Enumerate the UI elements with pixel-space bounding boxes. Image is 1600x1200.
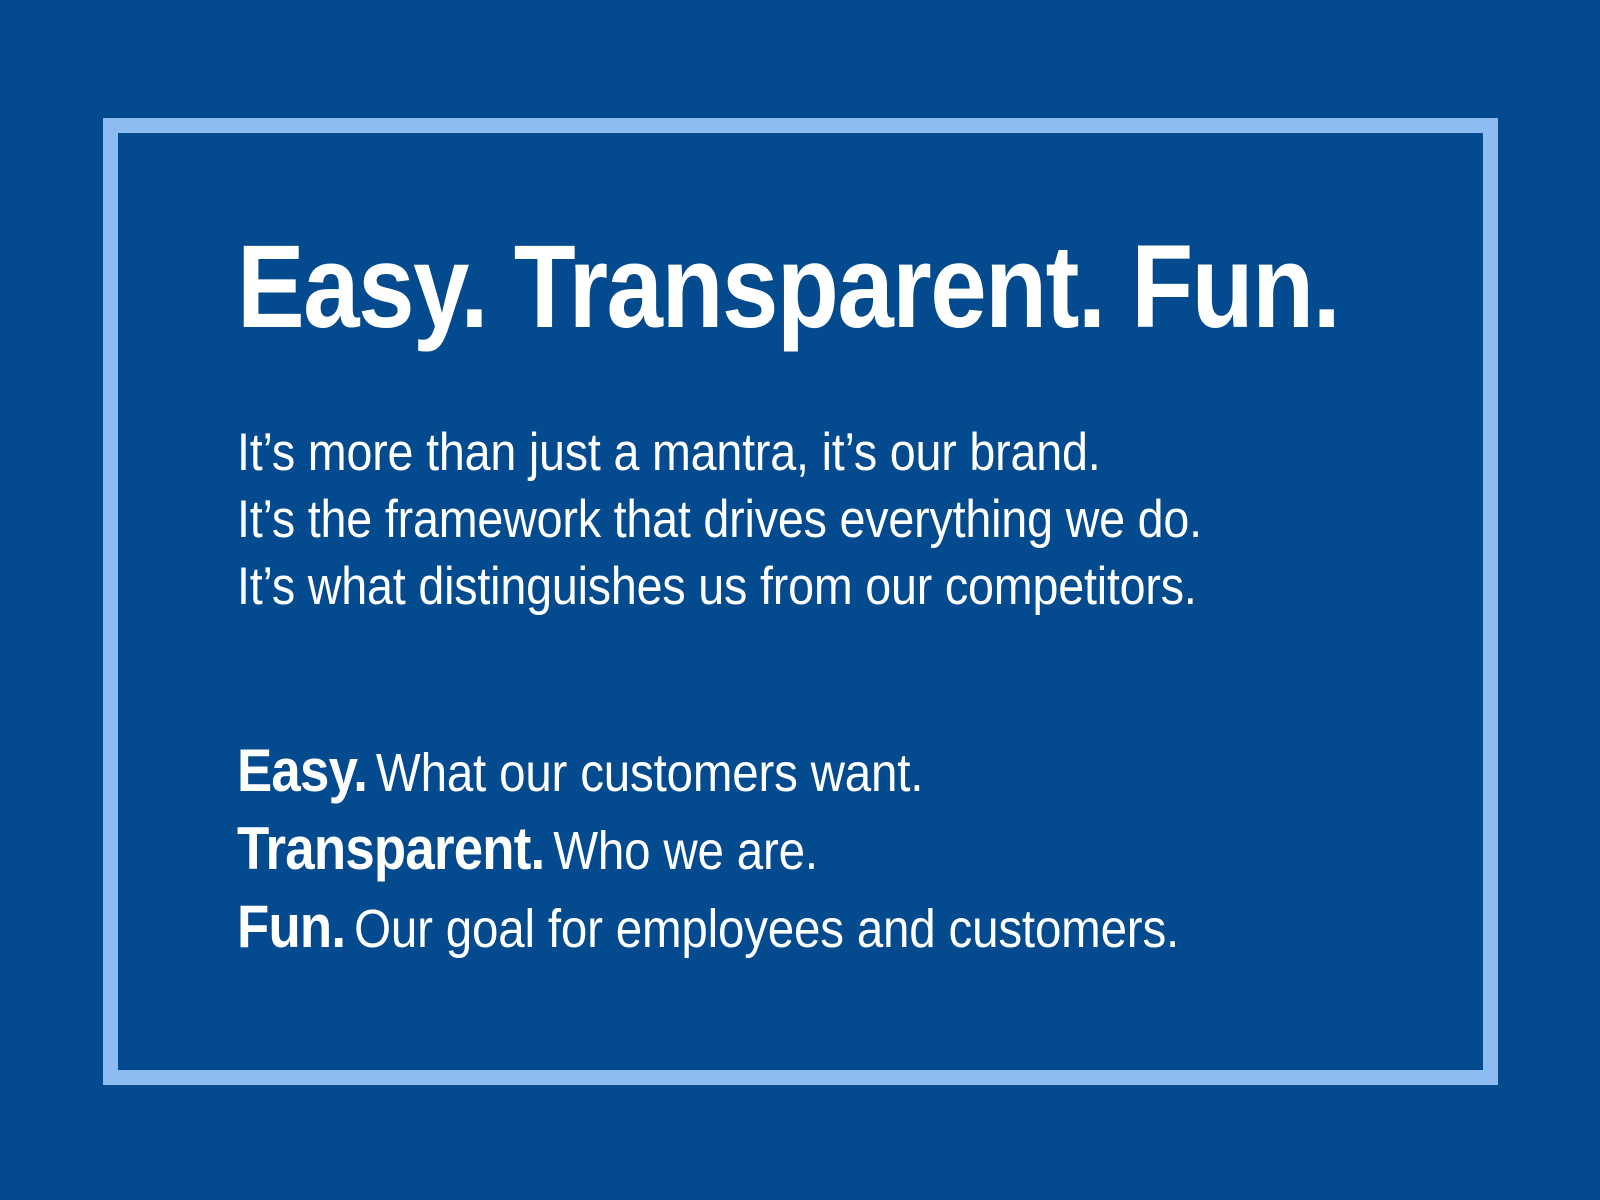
definition-item: Fun.Our goal for employees and customers… — [237, 888, 1293, 966]
definition-item: Transparent.Who we are. — [237, 810, 1293, 888]
definitions-list: Easy.What our customers want. Transparen… — [237, 732, 1437, 966]
definition-item: Easy.What our customers want. — [237, 732, 1293, 810]
definition-term: Transparent. — [237, 815, 544, 882]
slide-headline: Easy. Transparent. Fun. — [237, 228, 1269, 346]
definition-term: Easy. — [237, 737, 367, 804]
intro-line: It’s what distinguishes us from our comp… — [237, 554, 1293, 621]
definition-description: Our goal for employees and customers. — [354, 899, 1179, 959]
definition-description: What our customers want. — [376, 743, 923, 803]
definition-term: Fun. — [237, 893, 345, 960]
intro-line: It’s the framework that drives everythin… — [237, 487, 1293, 554]
brand-mantra-slide: Easy. Transparent. Fun. It’s more than j… — [0, 0, 1600, 1200]
definition-description: Who we are. — [553, 821, 818, 881]
slide-content: Easy. Transparent. Fun. It’s more than j… — [237, 228, 1437, 966]
intro-line: It’s more than just a mantra, it’s our b… — [237, 420, 1293, 487]
intro-paragraph: It’s more than just a mantra, it’s our b… — [237, 420, 1437, 620]
